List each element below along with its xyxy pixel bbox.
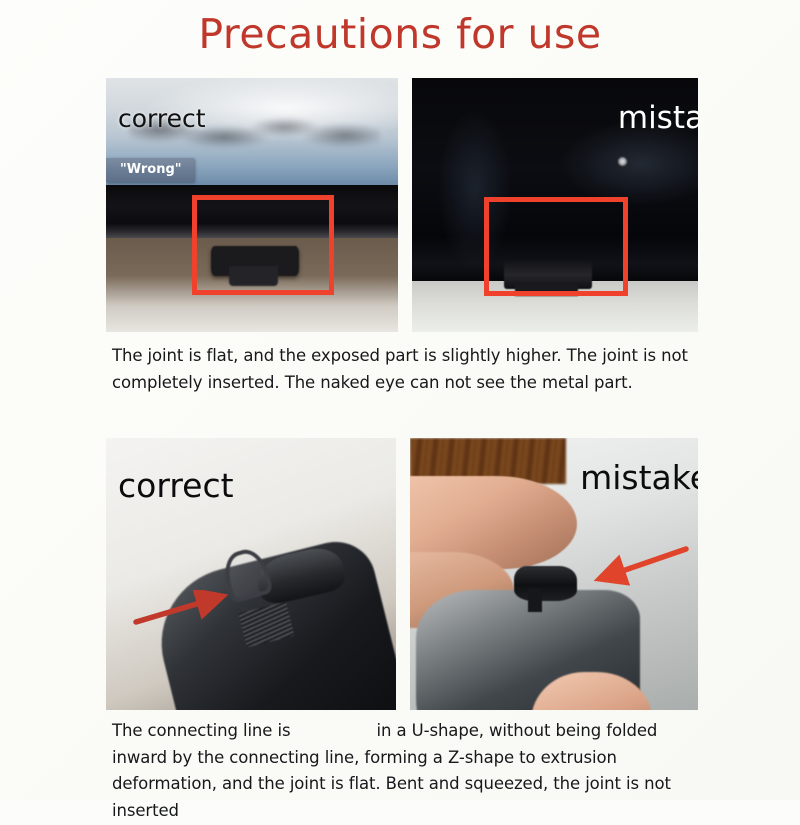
precautions-page: Precautions for use correct "Wrong" mist… [0,0,800,800]
photo-panel-bottom-left: correct [106,438,396,710]
red-arrow-icon [132,590,232,626]
screen-reflection-dot [618,157,627,166]
wrong-badge: "Wrong" [106,158,194,182]
photo-panel-top-right: mista [412,78,698,332]
label-correct-top-left: correct [118,104,206,133]
caption-top-section: The joint is flat, and the exposed part … [112,343,712,396]
caption-bottom-section: The connecting line isin a U-shape, with… [112,718,712,825]
label-mistake-top-right: mista [618,100,698,136]
highlight-rectangle-top-right [484,197,628,296]
red-arrow-icon [586,544,690,586]
bent-joint [514,566,577,601]
label-correct-bottom-left: correct [118,466,234,505]
page-title: Precautions for use [0,10,800,58]
photo-panel-top-left: correct "Wrong" [106,78,398,332]
highlight-rectangle-top-left [192,195,334,295]
caption-bottom-part1: The connecting line is [112,721,290,740]
photo-panel-bottom-right: mistake [410,438,698,710]
joint-stem [528,588,542,612]
label-mistake-bottom-right: mistake [580,458,698,497]
